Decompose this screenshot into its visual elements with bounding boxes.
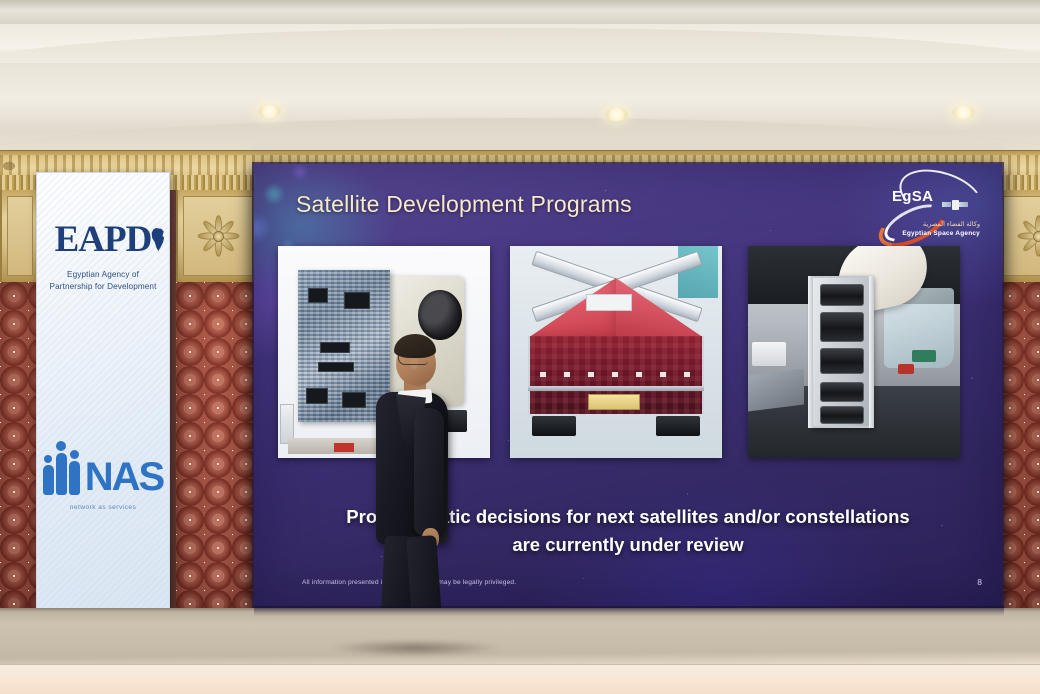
- screen-base-shadow: [254, 606, 1004, 616]
- connector-row: [540, 372, 692, 377]
- egsa-english-name: Egyptian Space Agency: [868, 230, 980, 237]
- structural-strip: [528, 386, 704, 391]
- red-cable: [898, 364, 914, 374]
- red-tufted-wall-panel: [996, 282, 1040, 610]
- eapd-subtitle-line2: Partnership for Development: [37, 281, 169, 293]
- yellow-id-plate: [588, 394, 640, 410]
- micro-sat-photo: [510, 246, 722, 458]
- nas-tagline: network as services: [37, 504, 169, 511]
- satellite-icon: [942, 194, 968, 216]
- stage-apron: [0, 664, 1040, 694]
- ceiling-downlight-icon: [605, 108, 628, 121]
- lab-equipment: [752, 342, 786, 366]
- red-marker: [334, 443, 354, 452]
- satellite-photo-card: Nano-Sat (1 - 10 Kg): [748, 246, 960, 458]
- eyeglasses-icon: [398, 355, 428, 365]
- cubesat-rail: [808, 276, 813, 428]
- africa-map-icon: [150, 228, 166, 251]
- gold-ornament-panel: [996, 190, 1040, 282]
- ceiling-downlight-icon: [258, 105, 281, 118]
- stage-floor: [0, 608, 1040, 694]
- person-figure-icon: [56, 441, 67, 495]
- panel-module: [344, 292, 370, 309]
- support-foot: [532, 416, 576, 436]
- egsa-arabic-name: وكالة الفضاء المصرية: [868, 220, 980, 228]
- optical-payload: [820, 284, 864, 306]
- support-foot: [656, 416, 700, 436]
- panel-module: [320, 342, 350, 353]
- speaker-floor-shadow: [330, 640, 500, 656]
- slide-page-number: 8: [977, 577, 982, 587]
- red-tufted-wall-panel: [176, 282, 260, 610]
- gold-ornament-panel: [176, 190, 260, 282]
- egsa-acronym: EgSA: [892, 188, 933, 205]
- conference-stage-scene: EAPD Egyptian Agency of Partnership for …: [0, 0, 1040, 694]
- slide-title: Satellite Development Programs: [296, 191, 632, 218]
- ceiling-outer-band: [0, 0, 1040, 26]
- green-component: [912, 350, 936, 362]
- eapd-banner: EAPD Egyptian Agency of Partnership for …: [36, 172, 170, 610]
- satellite-label-plate: [586, 294, 632, 311]
- nas-logo: NAS network as services: [37, 441, 169, 511]
- red-tufted-wall-panel: [0, 282, 40, 610]
- optical-payload: [820, 406, 864, 424]
- eapd-logo-word: EAPD: [55, 221, 152, 258]
- ceiling-downlight-icon: [952, 106, 975, 119]
- arm: [414, 408, 444, 536]
- optical-payload: [820, 382, 864, 402]
- cubesat-structure: [810, 276, 872, 428]
- panel-module: [308, 288, 328, 303]
- rosette-ornament-icon: [1015, 213, 1040, 259]
- nas-logo-word: NAS: [85, 460, 163, 494]
- optical-payload: [820, 348, 864, 374]
- nano-sat-photo: [748, 246, 960, 458]
- egsa-logo: EgSA وكالة الفضاء المصرية Egyptian Space…: [868, 176, 980, 248]
- nas-logo-row: NAS: [43, 441, 163, 495]
- panel-module: [318, 362, 354, 372]
- panel-frame: [7, 196, 33, 276]
- person-figure-icon: [69, 450, 80, 495]
- eapd-logo: EAPD Egyptian Agency of Partnership for …: [37, 221, 169, 293]
- gold-ornament-panel: [0, 190, 40, 282]
- rosette-ornament-icon: [195, 213, 241, 259]
- person-figure-icon: [43, 455, 54, 495]
- eapd-subtitle-line1: Egyptian Agency of: [37, 269, 169, 281]
- cubesat-rail: [869, 276, 874, 428]
- equipment-tray: [748, 369, 804, 412]
- optical-payload: [820, 312, 864, 342]
- satellite-photo-card: Micro-Sat (10 - 100 Kg): [510, 246, 722, 458]
- panel-module: [306, 388, 328, 404]
